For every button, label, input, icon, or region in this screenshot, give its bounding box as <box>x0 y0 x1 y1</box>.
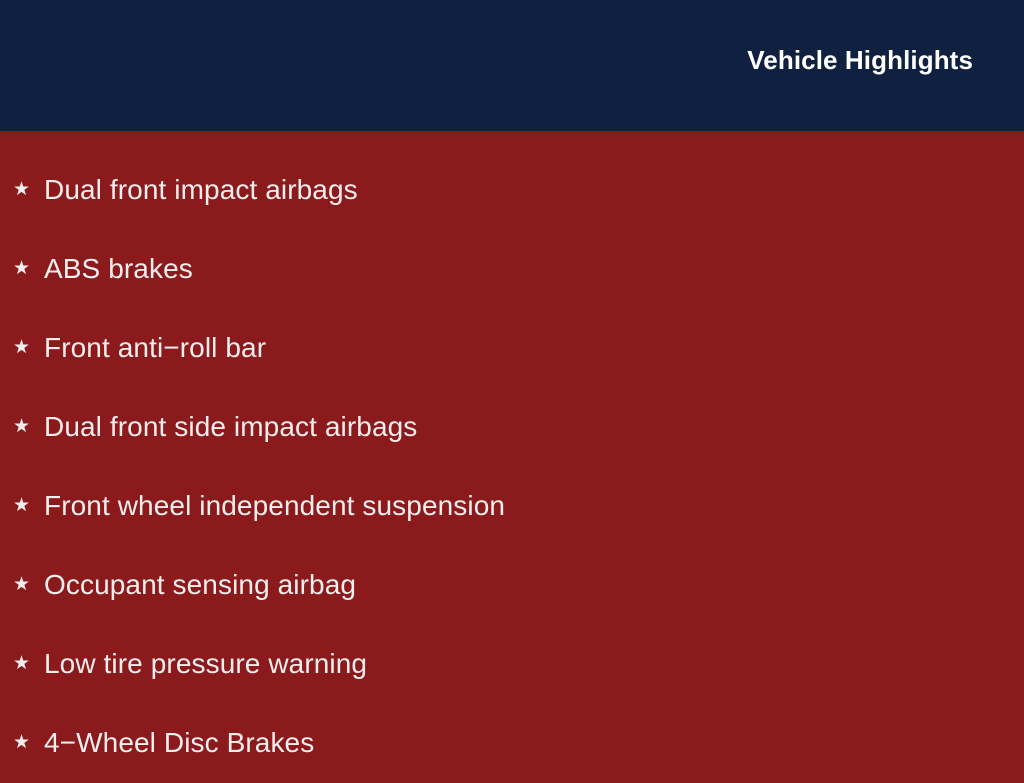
list-item-label: Front wheel independent suspension <box>44 491 1024 522</box>
list-item: ★ 4−Wheel Disc Brakes <box>0 704 1024 783</box>
star-icon: ★ <box>13 575 44 594</box>
list-item-label: 4−Wheel Disc Brakes <box>44 728 1024 759</box>
list-item-label: Occupant sensing airbag <box>44 570 1024 601</box>
list-item: ★ Dual front impact airbags <box>0 151 1024 230</box>
star-icon: ★ <box>13 259 44 278</box>
star-icon: ★ <box>13 654 44 673</box>
list-item-label: Front anti−roll bar <box>44 333 1024 364</box>
star-icon: ★ <box>13 180 44 199</box>
list-item: ★ Front anti−roll bar <box>0 309 1024 388</box>
list-item-label: Low tire pressure warning <box>44 649 1024 680</box>
slide-header: Vehicle Highlights <box>0 0 1024 131</box>
list-item: ★ Dual front side impact airbags <box>0 388 1024 467</box>
list-item-label: Dual front impact airbags <box>44 175 1024 206</box>
star-icon: ★ <box>13 733 44 752</box>
list-item: ★ Occupant sensing airbag <box>0 546 1024 625</box>
vehicle-highlights-slide: Vehicle Highlights ★ Dual front impact a… <box>0 0 1024 768</box>
list-item: ★ ABS brakes <box>0 230 1024 309</box>
star-icon: ★ <box>13 417 44 436</box>
list-item-label: ABS brakes <box>44 254 1024 285</box>
slide-body: ★ Dual front impact airbags ★ ABS brakes… <box>0 131 1024 768</box>
list-item-label: Dual front side impact airbags <box>44 412 1024 443</box>
star-icon: ★ <box>13 338 44 357</box>
list-item: ★ Front wheel independent suspension <box>0 467 1024 546</box>
star-icon: ★ <box>13 496 44 515</box>
vehicle-highlights-list: ★ Dual front impact airbags ★ ABS brakes… <box>0 151 1024 783</box>
list-item: ★ Low tire pressure warning <box>0 625 1024 704</box>
page-title: Vehicle Highlights <box>747 47 973 73</box>
